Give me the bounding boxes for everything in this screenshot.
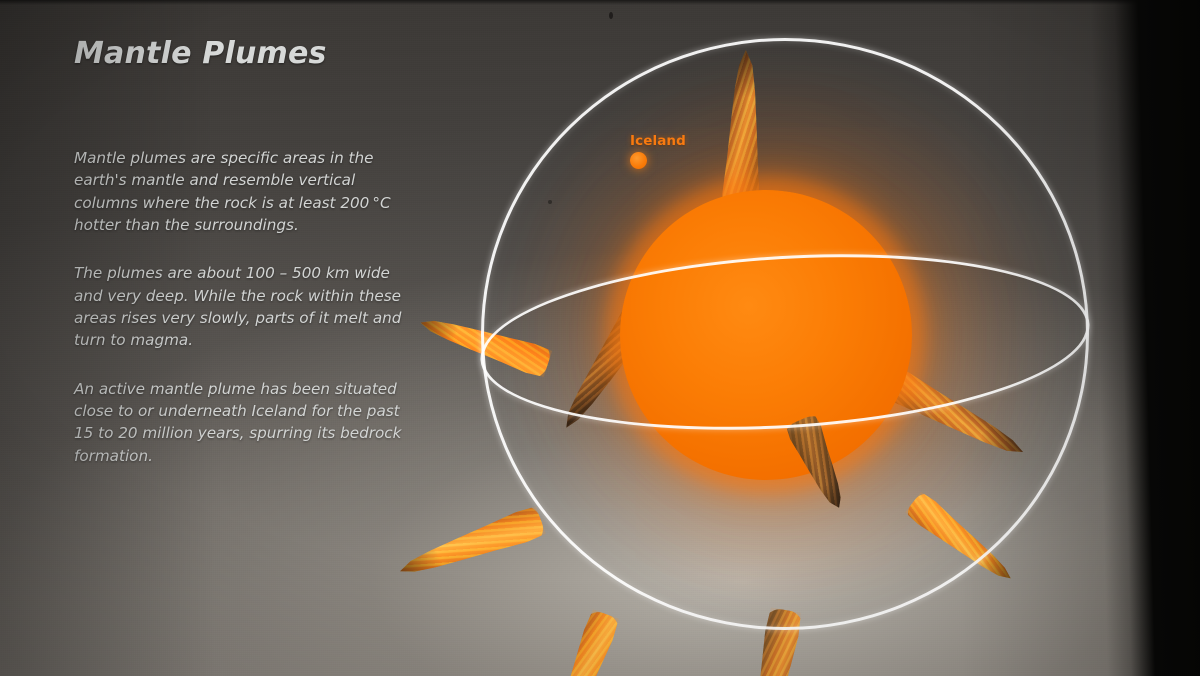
text-column: Mantle Plumes Mantle plumes are specific… <box>74 36 414 467</box>
paragraph-2: The plumes are about 100 – 500 km wide a… <box>74 262 404 351</box>
iceland-label: Iceland <box>630 133 686 149</box>
globe-illustration <box>478 34 1092 634</box>
iceland-marker-dot <box>630 152 647 169</box>
page-title: Mantle Plumes <box>74 36 414 71</box>
exhibit-panel: Mantle Plumes Mantle plumes are specific… <box>0 0 1200 676</box>
dust-speck-secondary <box>548 200 552 204</box>
paragraph-3: An active mantle plume has been situated… <box>74 378 404 467</box>
dust-speck <box>609 12 613 19</box>
paragraph-1: Mantle plumes are specific areas in the … <box>74 147 404 236</box>
